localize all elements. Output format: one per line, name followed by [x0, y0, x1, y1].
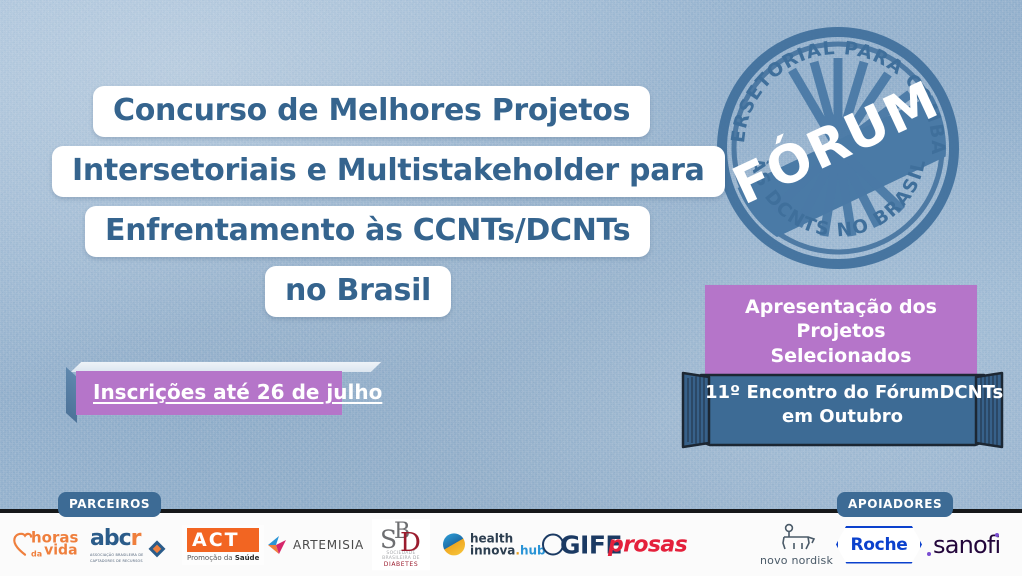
abcr-wordmark: abcr [90, 525, 144, 550]
logo-sbd: S B D SOCIEDADE BRASILEIRA DE DIABETES [372, 519, 430, 571]
title-line-1: Concurso de Melhores Projetos [93, 86, 650, 137]
sanofi-wordmark: sanofi [933, 531, 1000, 559]
globe-icon [443, 534, 465, 556]
sbd-monogram: S B D [378, 521, 424, 551]
page-title: Concurso de Melhores Projetos Intersetor… [0, 86, 700, 317]
logo-artemisia: ARTEMISIA [266, 534, 364, 556]
horas-small: da [31, 550, 42, 557]
ribbon-line-1: 11º Encontro do FórumDCNTs [705, 381, 980, 405]
deadline-box-front[interactable]: Inscrições até 26 de julho [76, 371, 342, 415]
prosas-wordmark: prosas [608, 532, 687, 557]
artemisia-mark-icon [266, 534, 288, 556]
event-ribbon-banner: 11º Encontro do FórumDCNTs em Outubro [679, 371, 1006, 450]
artemisia-wordmark: ARTEMISIA [293, 538, 364, 552]
deadline-label: Inscrições até 26 de julho [93, 380, 325, 404]
logo-horas-da-vida: horas da vida [12, 531, 78, 558]
purple-panel-line-2: Projetos [796, 320, 885, 343]
title-line-4: no Brasil [265, 266, 451, 317]
selected-projects-panel: Apresentação dos Projetos Selecionados [705, 285, 977, 379]
abcr-subtitle-1: ASSOCIAÇÃO BRASILEIRA DE [90, 552, 144, 557]
logo-novo-nordisk: novo nordisk [760, 523, 833, 567]
purple-panel-line-1: Apresentação dos [745, 296, 937, 319]
footer-logo-bar: horas da vida abcr ASSOCIAÇÃO BRASILEIRA… [0, 513, 1022, 576]
logo-health-innova-hub: health innova.hub [443, 532, 546, 557]
ribbon-line-2: em Outubro [705, 405, 980, 429]
supporters-badge: APOIADORES [837, 492, 953, 517]
logo-abcr: abcr ASSOCIAÇÃO BRASILEIRA DE CAPTADORES… [90, 525, 166, 563]
purple-panel-line-3: Selecionados [770, 345, 911, 368]
act-wordmark: ACT [187, 528, 259, 552]
abcr-diamond-icon [148, 540, 166, 558]
sbd-label: DIABETES [378, 561, 424, 568]
registration-deadline-box[interactable]: Inscrições até 26 de julho [66, 371, 342, 415]
sbd-letter-d: D [400, 528, 421, 558]
apis-bull-icon [774, 523, 820, 553]
sanofi-dot-left [927, 552, 931, 556]
title-line-2: Intersetoriais e Multistakeholder para [52, 146, 725, 197]
poster-canvas: Concurso de Melhores Projetos Intersetor… [0, 0, 1022, 576]
logo-act: ACT Promoção da Saúde [182, 525, 264, 565]
health-line-2: innova.hub [470, 545, 546, 558]
logo-sanofi: sanofi [933, 531, 1000, 559]
forum-stamp-logo: INTERSETORIAL PARA COMBATE ÀS DCNTS NO B… [714, 24, 962, 272]
ribbon-text-group: 11º Encontro do FórumDCNTs em Outubro [705, 381, 980, 430]
horas-line-2: vida [44, 545, 77, 558]
roche-hex-frame: Roche [836, 526, 922, 564]
roche-wordmark: Roche [851, 535, 908, 555]
act-subtitle: Promoção da Saúde [187, 554, 259, 562]
logo-prosas: prosas [608, 532, 687, 557]
title-line-3: Enfrentamento às CCNTs/DCNTs [85, 206, 650, 257]
partners-badge: PARCEIROS [58, 492, 161, 517]
novo-nordisk-wordmark: novo nordisk [760, 554, 833, 567]
abcr-subtitle-2: CAPTADORES DE RECURSOS [90, 559, 144, 564]
logo-roche: Roche [836, 526, 922, 564]
